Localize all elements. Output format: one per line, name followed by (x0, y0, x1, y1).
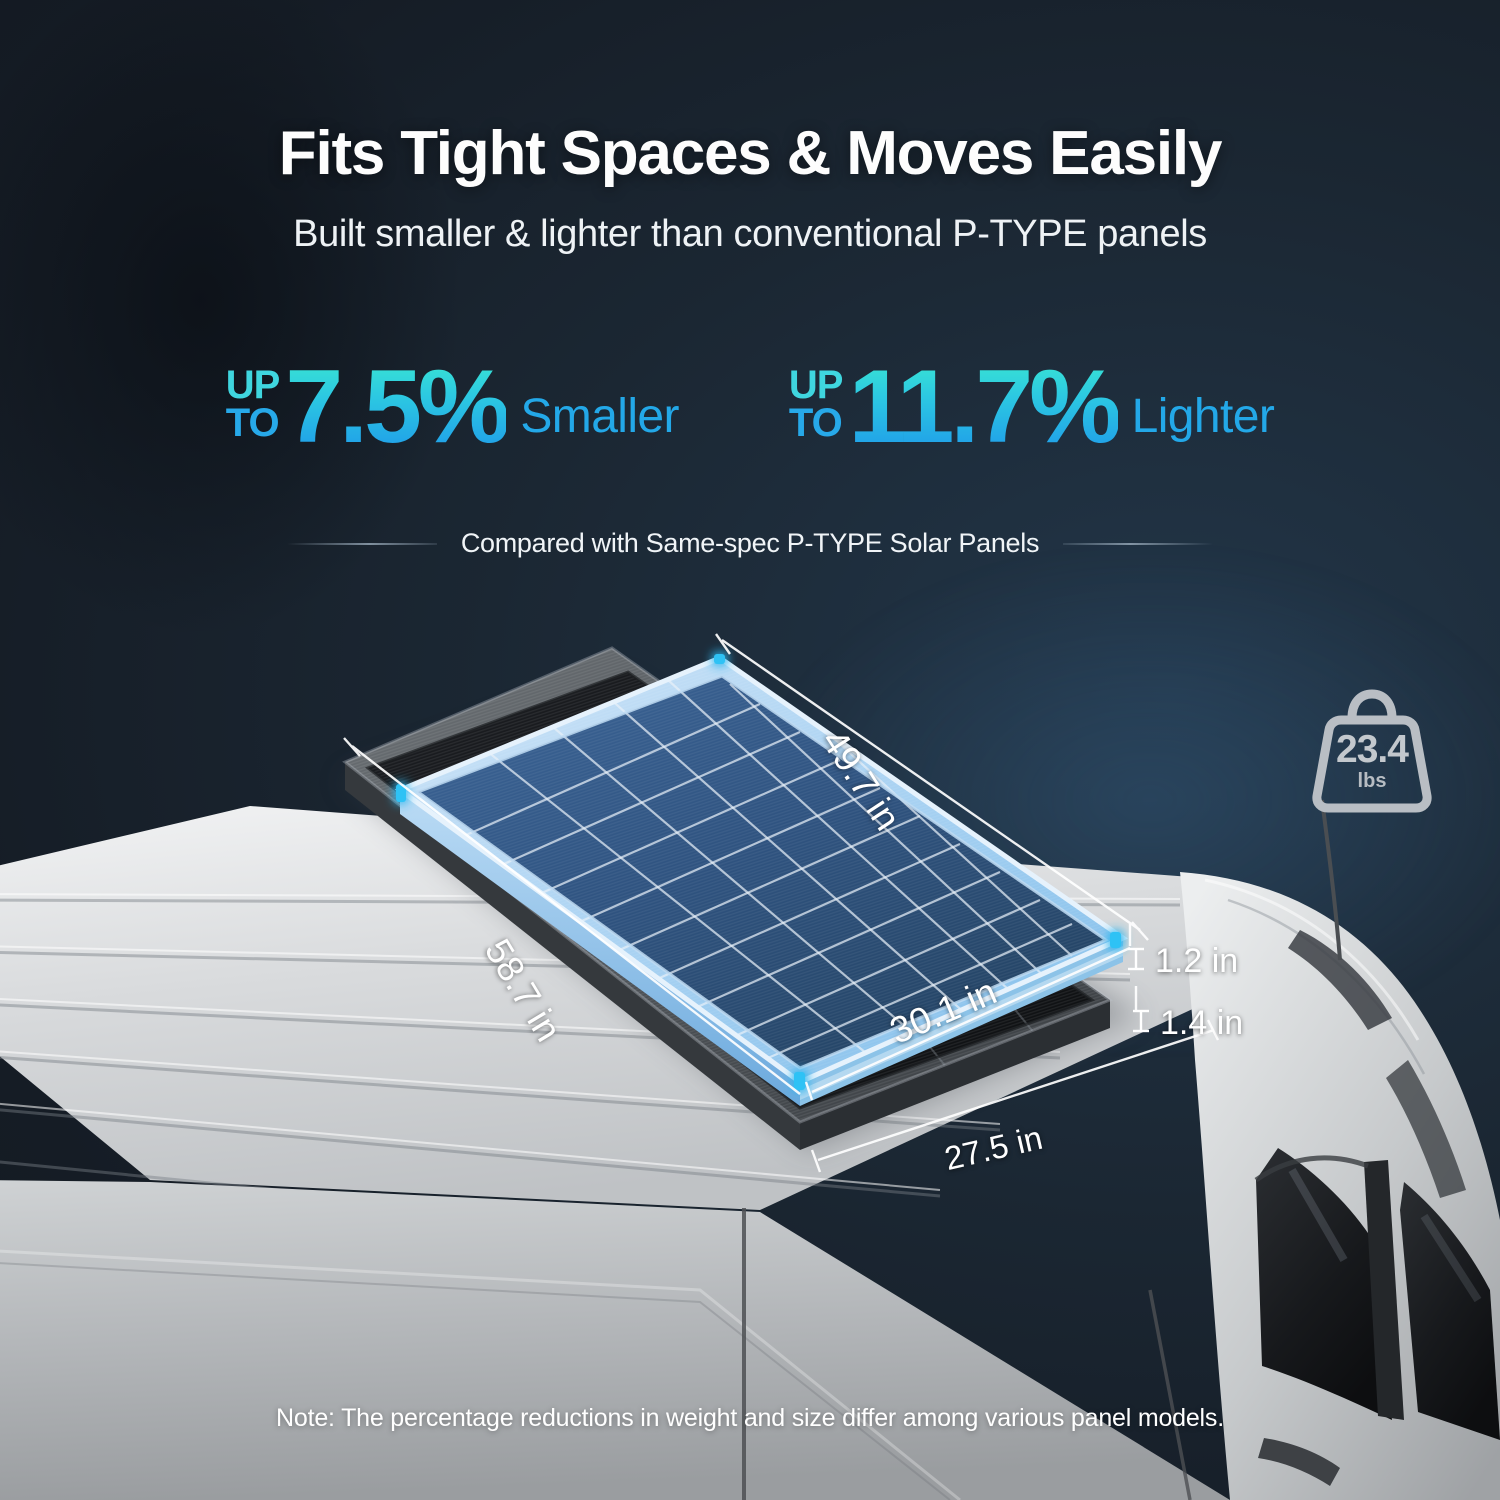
up-to-label-lighter: UP TO (789, 366, 843, 454)
footnote: Note: The percentage reductions in weigh… (0, 1404, 1500, 1433)
dimension-label-ntype-thickness: 1.2 in (1155, 942, 1238, 981)
product-marketing-image: Fits Tight Spaces & Moves Easily Built s… (0, 0, 1500, 1500)
stats-row: UP TO 7.5% Smaller UP TO 11.7% Lighter (0, 362, 1500, 454)
divider-left (287, 543, 437, 545)
divider-right (1063, 543, 1213, 545)
stat-value-lighter: 11.7% (848, 362, 1117, 454)
stat-label-lighter: Lighter (1132, 389, 1275, 454)
header: Fits Tight Spaces & Moves Easily Built s… (0, 0, 1500, 256)
stat-smaller: UP TO 7.5% Smaller (226, 362, 679, 454)
caliper-icon-ntype (1125, 946, 1147, 972)
to-label-lighter: TO (789, 404, 843, 442)
page-title: Fits Tight Spaces & Moves Easily (0, 118, 1500, 189)
stat-lighter: UP TO 11.7% Lighter (789, 362, 1274, 454)
weight-value: 23.4 (1297, 728, 1447, 772)
up-label-smaller: UP (226, 366, 280, 404)
up-label-lighter: UP (789, 366, 843, 404)
comparison-caption: Compared with Same-spec P-TYPE Solar Pan… (0, 528, 1500, 559)
comparison-text: Compared with Same-spec P-TYPE Solar Pan… (461, 528, 1039, 559)
van-side-body (0, 1180, 1230, 1500)
stat-label-smaller: Smaller (520, 389, 679, 454)
weight-badge: 23.4 lbs (1297, 672, 1447, 822)
stat-value-smaller: 7.5% (285, 362, 506, 454)
page-subtitle: Built smaller & lighter than conventiona… (0, 213, 1500, 256)
dimension-label-ptype-thickness: 1.4 in (1160, 1004, 1243, 1043)
caliper-icon-ptype (1130, 1008, 1152, 1034)
up-to-label-smaller: UP TO (226, 366, 280, 454)
weight-unit: lbs (1297, 770, 1447, 793)
to-label-smaller: TO (226, 404, 280, 442)
